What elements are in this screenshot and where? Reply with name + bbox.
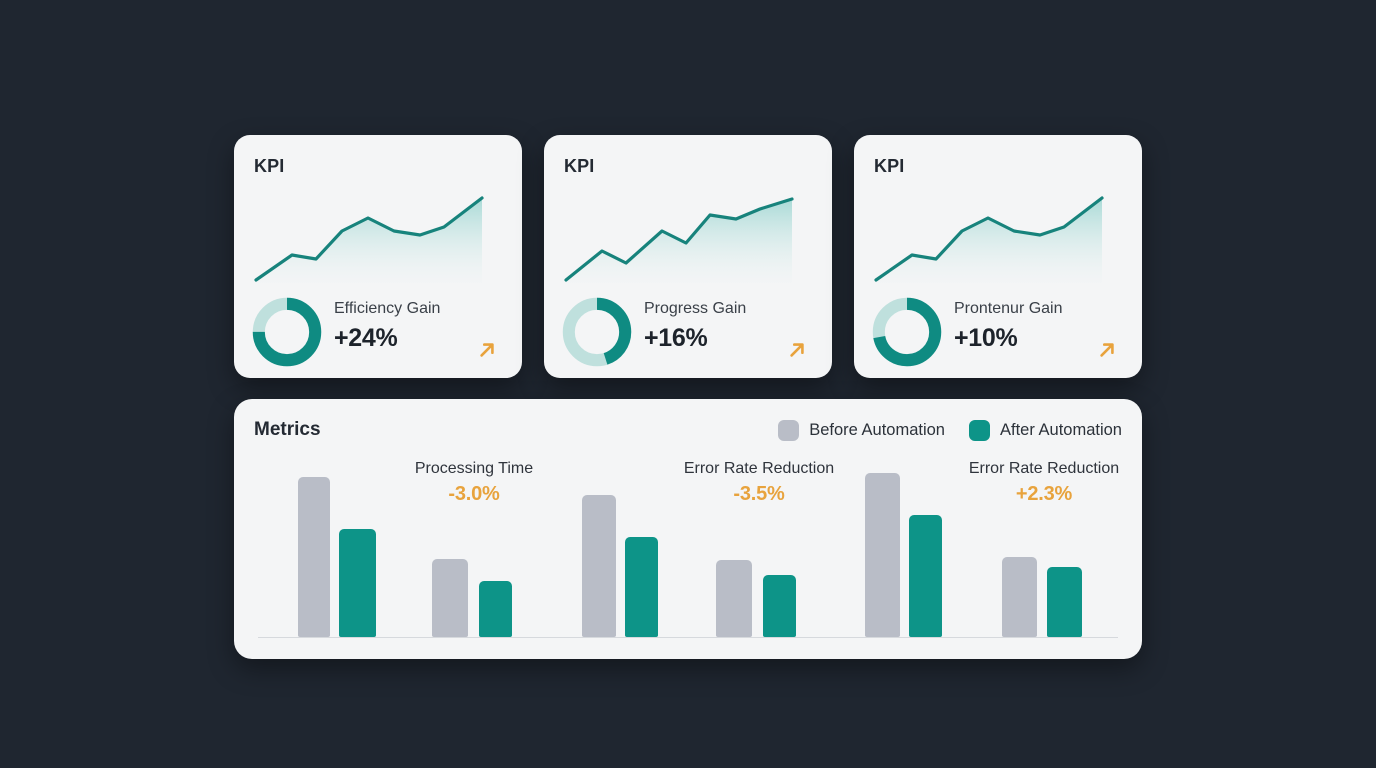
donut-progress-icon — [562, 297, 632, 367]
metric-annotation: Error Rate Reduction -3.5% — [659, 459, 859, 506]
arrow-up-right-icon[interactable] — [784, 337, 810, 363]
kpi-value: +10% — [954, 324, 1063, 353]
donut-progress-icon — [252, 297, 322, 367]
sparkline-chart — [854, 183, 1142, 293]
bar-before[interactable] — [432, 559, 468, 637]
metric-annotation-name: Error Rate Reduction — [659, 459, 859, 479]
bar-before[interactable] — [716, 560, 752, 637]
donut-progress-icon — [872, 297, 942, 367]
bar-after[interactable] — [763, 575, 796, 637]
sparkline-chart — [544, 183, 832, 293]
bar-before[interactable] — [865, 473, 900, 637]
bar-after[interactable] — [909, 515, 942, 637]
bar-after[interactable] — [625, 537, 658, 637]
bar-after[interactable] — [1047, 567, 1082, 637]
dashboard: KPI Efficiency Gain +24% — [234, 135, 1142, 659]
arrow-up-right-icon[interactable] — [1094, 337, 1120, 363]
bar-after[interactable] — [339, 529, 376, 637]
kpi-value: +16% — [644, 324, 746, 353]
kpi-card-row: KPI Efficiency Gain +24% — [234, 135, 1142, 378]
bar-chart: Processing Time -3.0% Error Rate Reducti… — [234, 399, 1142, 659]
metric-annotation-delta: -3.0% — [389, 483, 559, 506]
metric-annotation-delta: +2.3% — [944, 483, 1142, 506]
metrics-panel[interactable]: Metrics Before Automation After Automati… — [234, 399, 1142, 659]
arrow-up-right-icon[interactable] — [474, 337, 500, 363]
kpi-text-block: Progress Gain +16% — [644, 299, 746, 353]
metric-annotation-name: Error Rate Reduction — [944, 459, 1142, 479]
kpi-card-footer: Efficiency Gain +24% — [252, 297, 504, 367]
metric-annotation-delta: -3.5% — [659, 483, 859, 506]
kpi-card[interactable]: KPI Prontenur Gain +10% — [854, 135, 1142, 378]
kpi-card-footer: Prontenur Gain +10% — [872, 297, 1124, 367]
sparkline-chart — [234, 183, 522, 293]
bar-before[interactable] — [298, 477, 330, 637]
kpi-label: Progress Gain — [644, 299, 746, 319]
chart-baseline — [258, 637, 1118, 638]
metric-annotation: Error Rate Reduction +2.3% — [944, 459, 1142, 506]
kpi-text-block: Prontenur Gain +10% — [954, 299, 1063, 353]
bar-before[interactable] — [1002, 557, 1037, 637]
kpi-card-title: KPI — [254, 156, 284, 177]
metric-annotation: Processing Time -3.0% — [389, 459, 559, 506]
kpi-card-title: KPI — [564, 156, 594, 177]
kpi-text-block: Efficiency Gain +24% — [334, 299, 440, 353]
kpi-card-footer: Progress Gain +16% — [562, 297, 814, 367]
metric-annotation-name: Processing Time — [389, 459, 559, 479]
bar-after[interactable] — [479, 581, 512, 637]
kpi-card[interactable]: KPI Progress Gain +16% — [544, 135, 832, 378]
kpi-card-title: KPI — [874, 156, 904, 177]
bar-before[interactable] — [582, 495, 616, 637]
kpi-label: Prontenur Gain — [954, 299, 1063, 319]
kpi-label: Efficiency Gain — [334, 299, 440, 319]
kpi-value: +24% — [334, 324, 440, 353]
kpi-card[interactable]: KPI Efficiency Gain +24% — [234, 135, 522, 378]
